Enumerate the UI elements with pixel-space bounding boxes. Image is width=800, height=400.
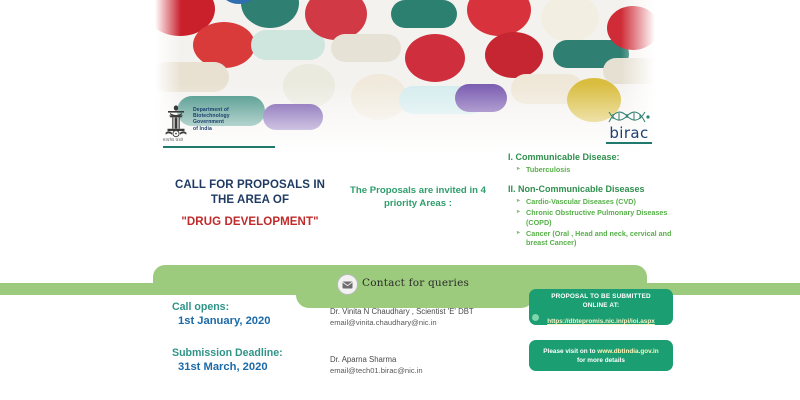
list-item-label: Cancer (Oral , Head and neck, cervical a… (526, 229, 671, 247)
list-item: ▸ Cardio-Vascular Diseases (CVD) (526, 197, 694, 206)
non-communicable-items: ▸ Cardio-Vascular Diseases (CVD) ▸ Chron… (508, 197, 694, 247)
contact-email[interactable]: email@tech01.birac@nic.in (330, 365, 530, 376)
list-item: ▸ Tuberculosis (526, 165, 694, 174)
envelope-icon (337, 274, 358, 295)
list-item-label: Chronic Obstructive Pulmonary Diseases (… (526, 208, 667, 226)
bullet-arrow-icon: ▸ (517, 229, 520, 238)
invitation-block: The Proposals are invited in 4 priority … (338, 184, 498, 210)
bullet-arrow-icon: ▸ (517, 165, 520, 174)
contact-email[interactable]: email@vinita.chaudhary@nic.in (330, 317, 530, 328)
visit-website-line-2: for more details (529, 356, 673, 365)
submission-deadline-value: 31st March, 2020 (172, 360, 342, 375)
dna-helix-icon (607, 108, 651, 125)
contact-name: Dr. Aparna Sharma (330, 354, 530, 365)
communicable-heading: I. Communicable Disease: (508, 151, 694, 163)
contact-name: Dr. Vinita N Chaudhary , Scientist 'E' D… (330, 306, 530, 317)
ashoka-emblem-icon (163, 103, 189, 139)
non-communicable-heading: II. Non-Communicable Diseases (508, 183, 694, 195)
list-item-label: Cardio-Vascular Diseases (CVD) (526, 197, 636, 206)
dbt-website-link[interactable]: www.dbtindia.gov.in (597, 348, 658, 355)
visit-website-line-1: Please visit on to www.dbtindia.gov.in (529, 347, 673, 356)
list-item: ▸ Chronic Obstructive Pulmonary Diseases… (526, 208, 694, 226)
poster-root: Department of Biotechnology Government o… (0, 0, 800, 400)
dbt-logo-text: Department of Biotechnology Government o… (193, 103, 230, 132)
online-submission-box: PROPOSAL TO BE SUBMITTED ONLINE AT: http… (529, 289, 673, 325)
birac-wordmark: birac (603, 125, 655, 141)
visit-prefix: Please visit on to (543, 348, 597, 355)
emblem-motto: सत्यमेव जयते (163, 138, 183, 143)
visit-website-box: Please visit on to www.dbtindia.gov.in f… (529, 340, 673, 371)
globe-icon (532, 314, 539, 321)
birac-underline (606, 142, 652, 144)
online-submission-line-1: PROPOSAL TO BE SUBMITTED (529, 293, 673, 302)
call-opens-value: 1st January, 2020 (172, 314, 342, 329)
call-opens-label: Call opens: (172, 300, 342, 314)
bullet-arrow-icon: ▸ (517, 208, 520, 217)
submission-portal-link[interactable]: https://dbtepromis.nic.in/pi/ioi.aspx (547, 317, 655, 326)
list-item-label: Tuberculosis (526, 165, 570, 174)
call-title-line-2: THE AREA OF (160, 193, 340, 208)
contact-for-queries-label: Contact for queries (362, 277, 469, 289)
call-subject: "DRUG DEVELOPMENT" (160, 215, 340, 230)
dbt-logo: Department of Biotechnology Government o… (163, 103, 230, 139)
birac-logo: birac (603, 108, 655, 144)
invitation-line-1: The Proposals are invited in 4 (338, 184, 498, 197)
invitation-line-2: priority Areas : (338, 197, 498, 210)
header-pill-photo (155, 0, 655, 152)
key-dates-block: Call opens: 1st January, 2020 Submission… (172, 300, 342, 375)
contacts-block: Dr. Vinita N Chaudhary , Scientist 'E' D… (330, 306, 530, 376)
online-submission-line-2: ONLINE AT: (529, 302, 673, 311)
list-item: ▸ Cancer (Oral , Head and neck, cervical… (526, 229, 694, 247)
bullet-arrow-icon: ▸ (517, 197, 520, 206)
submission-deadline-label: Submission Deadline: (172, 346, 342, 360)
call-for-proposals-block: CALL FOR PROPOSALS IN THE AREA OF "DRUG … (160, 178, 340, 230)
communicable-items: ▸ Tuberculosis (508, 165, 694, 174)
priority-areas-list: I. Communicable Disease: ▸ Tuberculosis … (508, 151, 694, 249)
dbt-logo-underline (163, 146, 275, 148)
envelope-glyph (342, 281, 353, 289)
call-title-line-1: CALL FOR PROPOSALS IN (160, 178, 340, 193)
